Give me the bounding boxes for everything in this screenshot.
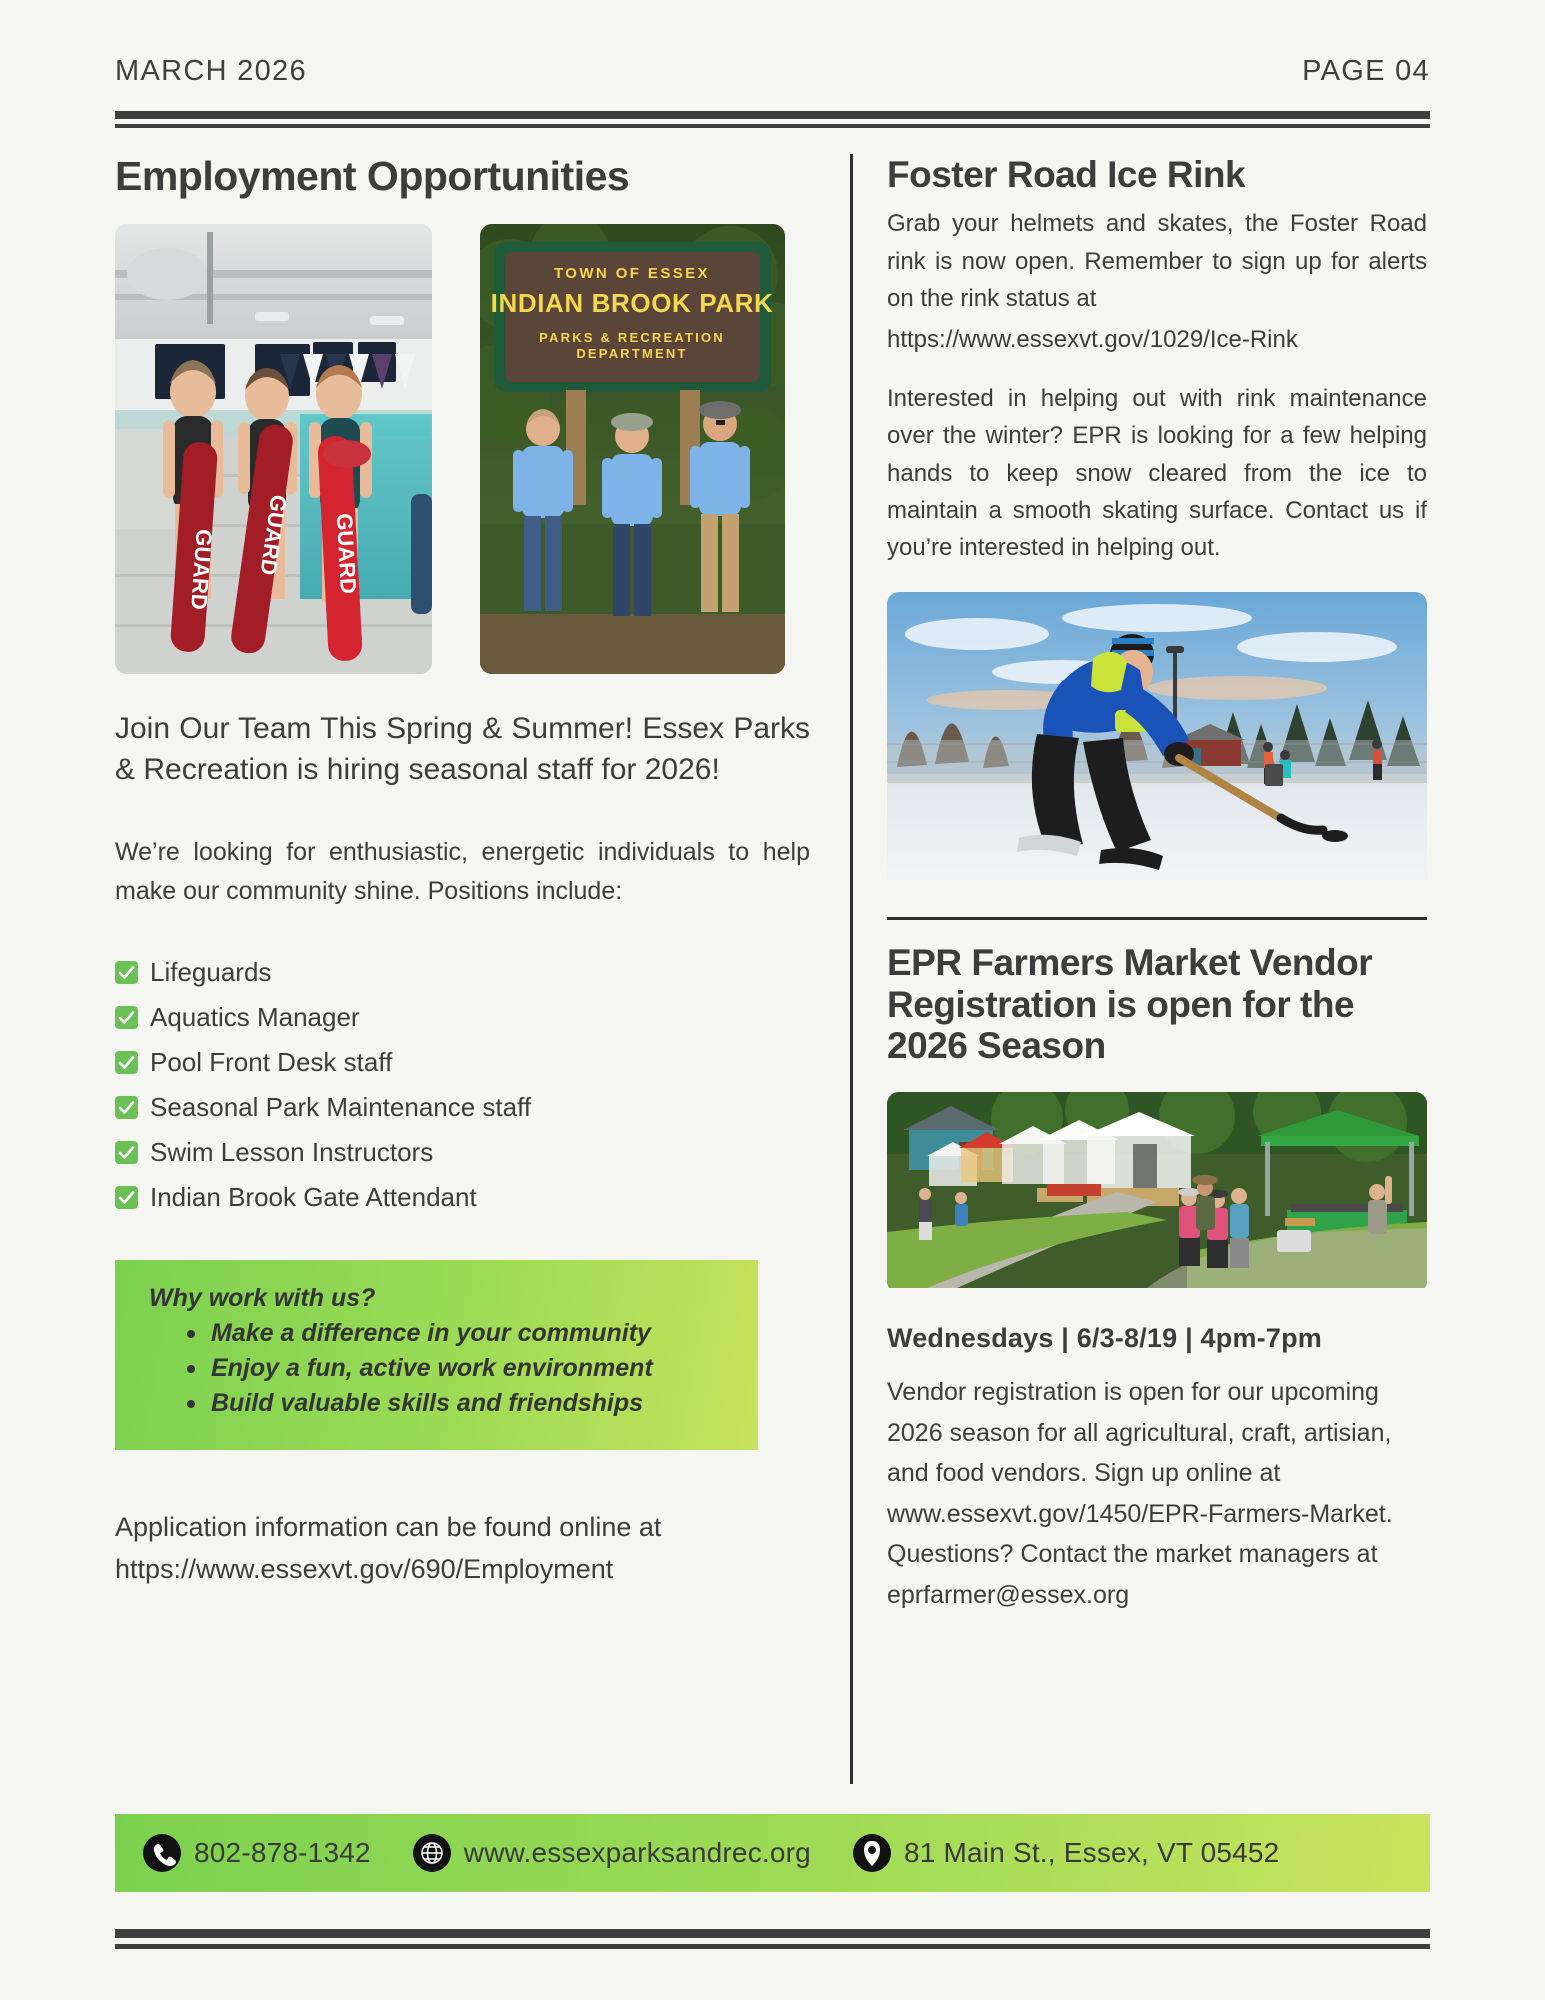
list-item: Enjoy a fun, active work environment bbox=[181, 1354, 728, 1383]
list-item: Swim Lesson Instructors bbox=[115, 1139, 810, 1165]
ice-rink-text-1: Grab your helmets and skates, the Foster… bbox=[887, 210, 1427, 311]
position-label: Pool Front Desk staff bbox=[150, 1049, 392, 1075]
application-info-text: Application information can be found onl… bbox=[115, 1512, 661, 1542]
checkmark-icon bbox=[115, 1006, 138, 1029]
footer-rule-stack bbox=[115, 1929, 1430, 1949]
website-url: www.essexparksandrec.org bbox=[464, 1837, 811, 1869]
contact-phone[interactable]: 802-878-1342 bbox=[143, 1834, 371, 1872]
issue-date: MARCH 2026 bbox=[115, 55, 307, 88]
header-rule-thick bbox=[115, 111, 1430, 119]
list-item: Make a difference in your community bbox=[181, 1319, 728, 1348]
section-divider bbox=[887, 917, 1427, 920]
farmers-market-section-title: EPR Farmers Market Vendor Registration i… bbox=[887, 942, 1427, 1066]
page-number: PAGE 04 bbox=[1302, 55, 1430, 88]
masthead: MARCH 2026 PAGE 04 bbox=[115, 0, 1430, 88]
position-label: Indian Brook Gate Attendant bbox=[150, 1184, 477, 1210]
position-label: Swim Lesson Instructors bbox=[150, 1139, 433, 1165]
phone-icon bbox=[143, 1834, 181, 1872]
contact-website[interactable]: www.essexparksandrec.org bbox=[413, 1834, 811, 1872]
right-column: Foster Road Ice Rink Grab your helmets a… bbox=[887, 154, 1427, 1764]
svg-text:TOWN OF ESSEX: TOWN OF ESSEX bbox=[554, 265, 710, 282]
indian-brook-park-sign-photo: TOWN OF ESSEX INDIAN BROOK PARK PARKS & … bbox=[480, 224, 785, 674]
address-text: 81 Main St., Essex, VT 05452 bbox=[904, 1837, 1280, 1869]
column-divider bbox=[850, 154, 853, 1784]
svg-text:INDIAN BROOK PARK: INDIAN BROOK PARK bbox=[491, 288, 774, 318]
ice-rink-photo bbox=[887, 592, 1427, 885]
why-work-with-us-callout: Why work with us? Make a difference in y… bbox=[115, 1260, 758, 1450]
ice-rink-paragraph-2: Interested in helping out with rink main… bbox=[887, 380, 1427, 566]
market-schedule: Wednesdays | 6/3-8/19 | 4pm-7pm bbox=[887, 1323, 1427, 1354]
list-item: Lifeguards bbox=[115, 959, 810, 985]
footer-contact-bar: 802-878-1342 www.essexparksandrec.org bbox=[115, 1814, 1430, 1892]
newsletter-page: MARCH 2026 PAGE 04 Employment Opportunit… bbox=[0, 0, 1545, 2000]
contact-address[interactable]: 81 Main St., Essex, VT 05452 bbox=[853, 1834, 1280, 1872]
header-rule-stack bbox=[115, 111, 1430, 128]
header-rule-thin bbox=[115, 124, 1430, 128]
list-item: Indian Brook Gate Attendant bbox=[115, 1184, 810, 1210]
callout-title: Why work with us? bbox=[149, 1284, 728, 1313]
checkmark-icon bbox=[115, 1186, 138, 1209]
positions-checklist: Lifeguards Aquatics Manager Pool Front D… bbox=[115, 959, 810, 1210]
market-body: Vendor registration is open for our upco… bbox=[887, 1372, 1427, 1615]
callout-list: Make a difference in your community Enjo… bbox=[181, 1319, 728, 1418]
content-columns: Employment Opportunities bbox=[115, 154, 1430, 1764]
ice-rink-paragraph-1: Grab your helmets and skates, the Foster… bbox=[887, 205, 1427, 317]
application-info: Application information can be found onl… bbox=[115, 1506, 810, 1591]
list-item: Pool Front Desk staff bbox=[115, 1049, 810, 1075]
svg-text:GUARD: GUARD bbox=[332, 513, 361, 595]
position-label: Lifeguards bbox=[150, 959, 271, 985]
employment-lead: Join Our Team This Spring & Summer! Esse… bbox=[115, 708, 810, 791]
employment-photo-row: GUARD GUARD GUARD bbox=[115, 224, 810, 674]
list-item: Build valuable skills and friendships bbox=[181, 1389, 728, 1418]
svg-text:PARKS & RECREATION: PARKS & RECREATION bbox=[539, 330, 725, 345]
position-label: Seasonal Park Maintenance staff bbox=[150, 1094, 531, 1120]
location-pin-icon bbox=[853, 1834, 891, 1872]
checkmark-icon bbox=[115, 1096, 138, 1119]
position-label: Aquatics Manager bbox=[150, 1004, 360, 1030]
farmers-market-photo bbox=[887, 1092, 1427, 1293]
ice-rink-url[interactable]: https://www.essexvt.gov/1029/Ice-Rink bbox=[887, 321, 1427, 358]
footer-rule-thick bbox=[115, 1929, 1430, 1938]
svg-text:DEPARTMENT: DEPARTMENT bbox=[576, 346, 687, 361]
checkmark-icon bbox=[115, 961, 138, 984]
list-item: Aquatics Manager bbox=[115, 1004, 810, 1030]
lifeguards-photo: GUARD GUARD GUARD bbox=[115, 224, 432, 674]
left-column: Employment Opportunities bbox=[115, 154, 850, 1764]
checkmark-icon bbox=[115, 1141, 138, 1164]
ice-rink-section-title: Foster Road Ice Rink bbox=[887, 154, 1427, 195]
checkmark-icon bbox=[115, 1051, 138, 1074]
globe-icon bbox=[413, 1834, 451, 1872]
employment-section-title: Employment Opportunities bbox=[115, 154, 810, 200]
application-url[interactable]: https://www.essexvt.gov/690/Employment bbox=[115, 1548, 810, 1591]
employment-intro: We’re looking for enthusiastic, energeti… bbox=[115, 833, 810, 911]
phone-number: 802-878-1342 bbox=[194, 1837, 371, 1869]
list-item: Seasonal Park Maintenance staff bbox=[115, 1094, 810, 1120]
footer-rule-thin bbox=[115, 1944, 1430, 1949]
